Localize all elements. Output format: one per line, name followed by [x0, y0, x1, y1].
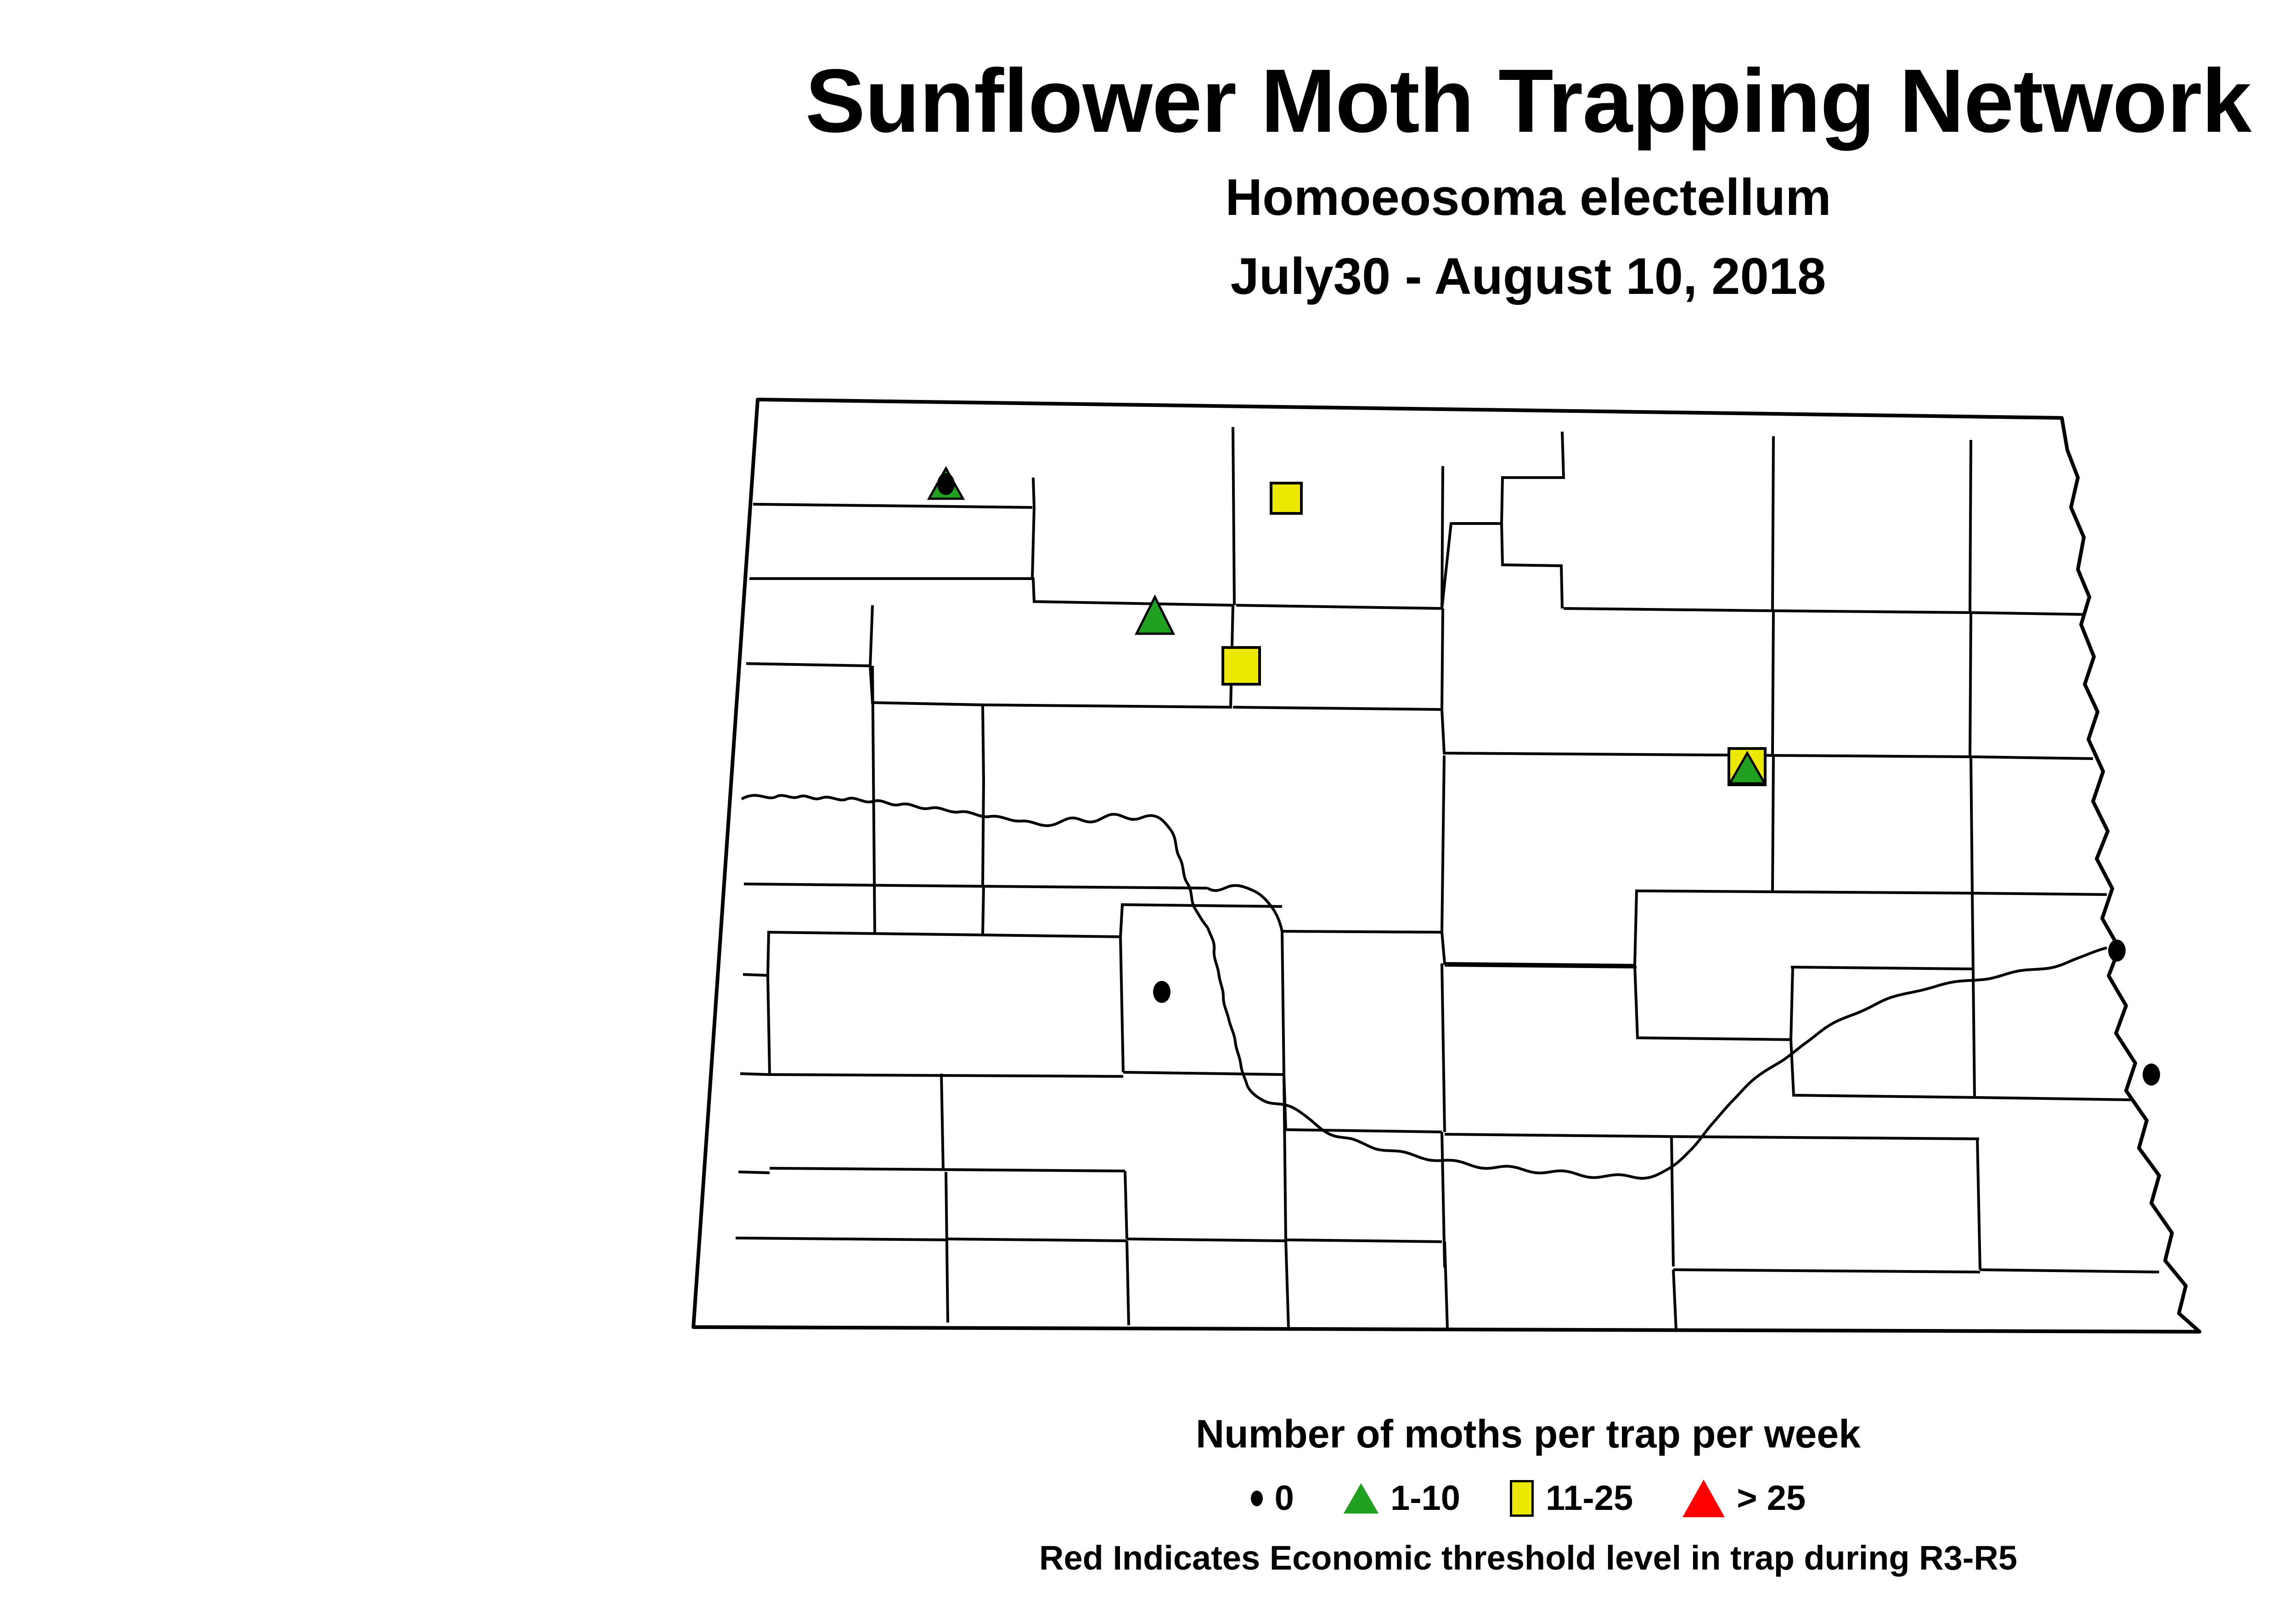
legend-items: 0 1-10 11-25 > 25	[0, 1480, 2296, 1517]
legend-item-zero[interactable]: 0	[1251, 1481, 1294, 1516]
map-svg	[661, 386, 2296, 1373]
red-triangle-marker-icon	[1683, 1480, 1725, 1517]
state-outline-group	[693, 400, 2200, 1332]
marker-c-square-triangle[interactable]	[1729, 749, 1765, 785]
yellow-square-marker-icon	[1510, 1480, 1534, 1517]
marker-wc-square-2[interactable]	[1223, 647, 1260, 684]
date-range-label: July30 - August 10, 2018	[0, 251, 2296, 302]
page-root: Sunflower Moth Trapping Network Homoeoso…	[0, 0, 2296, 1610]
legend-note: Red Indicates Economic threshold level i…	[0, 1541, 2296, 1575]
marker-nc-square-1[interactable]	[1271, 483, 1301, 513]
legend-item-1-10[interactable]: 1-10	[1344, 1481, 1460, 1516]
north-dakota-map	[661, 386, 2296, 1373]
green-triangle-marker-icon	[1344, 1483, 1379, 1514]
marker-sw-dot[interactable]	[1153, 981, 1171, 1003]
legend-label-1-10: 1-10	[1390, 1481, 1460, 1516]
legend-label-11-25: 11-25	[1546, 1481, 1633, 1516]
legend-item-11-25[interactable]: 11-25	[1510, 1480, 1633, 1517]
circle-marker-icon	[1251, 1491, 1263, 1506]
legend-label-over-25: > 25	[1737, 1481, 1806, 1516]
marker-se-dot-2[interactable]	[2143, 1064, 2160, 1086]
state-outline	[693, 400, 2200, 1332]
title-block: Sunflower Moth Trapping Network Homoeoso…	[0, 0, 2296, 302]
legend: Number of moths per trap per week 0 1-10…	[0, 1414, 2296, 1575]
legend-title: Number of moths per trap per week	[0, 1414, 2296, 1454]
marker-se-dot-1[interactable]	[2108, 940, 2126, 962]
species-subtitle: Homoeosoma electellum	[0, 172, 2296, 223]
legend-label-zero: 0	[1275, 1481, 1294, 1516]
page-title: Sunflower Moth Trapping Network	[0, 56, 2296, 146]
legend-item-over-25[interactable]: > 25	[1683, 1480, 1806, 1517]
